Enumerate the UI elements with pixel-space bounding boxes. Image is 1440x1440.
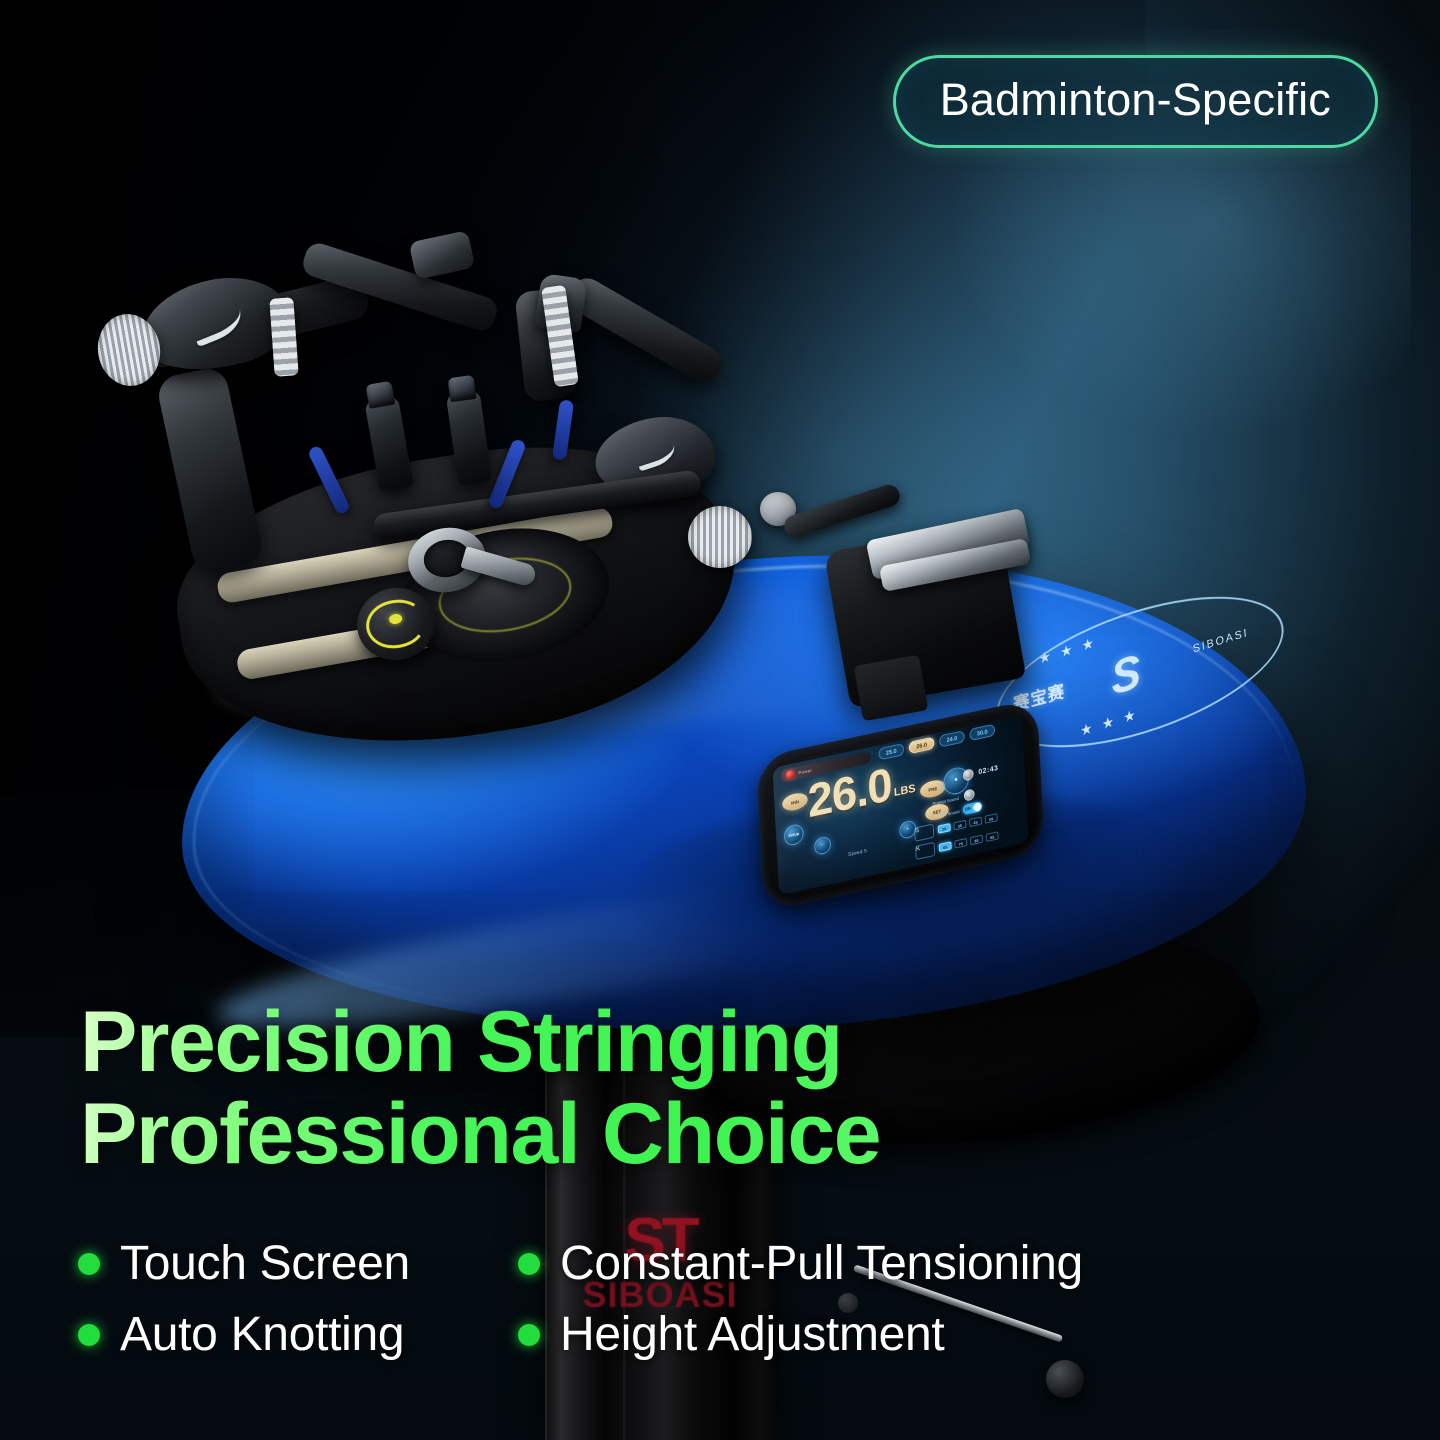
- tension-value: 26.0: [807, 765, 893, 821]
- feature-label: Height Adjustment: [560, 1307, 944, 1362]
- grid-tag-r2-2[interactable]: 7S: [954, 838, 967, 849]
- side-button-pre[interactable]: PRE: [920, 778, 946, 800]
- tension-unit: LBS: [894, 782, 916, 799]
- grid-tag-r1-3[interactable]: 4S: [969, 816, 982, 827]
- feature-list: Touch Screen Constant-Pull Tensioning Au…: [78, 1236, 1358, 1362]
- feature-label: Auto Knotting: [120, 1307, 404, 1362]
- height-adjust-knob: [1046, 1360, 1084, 1398]
- swoosh-logo-icon: [186, 296, 247, 347]
- side-button-min[interactable]: MIN: [782, 791, 808, 813]
- poster-canvas: ST SIBOASI ★★★ ★★★ 赛宝赛 S SIBOASI: [0, 0, 1440, 1440]
- tension-preset-3[interactable]: 24.0: [939, 730, 965, 748]
- tension-preset-2[interactable]: 26.0: [909, 737, 935, 755]
- feature-item-height-adjustment: Height Adjustment: [518, 1307, 1358, 1362]
- decrease-button[interactable]: −: [814, 835, 832, 856]
- badminton-specific-badge: Badminton-Specific: [893, 55, 1378, 148]
- swoosh-logo-icon-small: [632, 434, 678, 471]
- grid-tag-r1-1[interactable]: 2S: [938, 823, 951, 834]
- power-icon: [785, 769, 794, 780]
- toggle-state-text: ON: [965, 805, 971, 811]
- knurled-adjust-knob-right: [688, 506, 752, 568]
- bullet-dot-icon: [518, 1253, 540, 1275]
- tension-preset-group[interactable]: 25.0 26.0 24.0 30.0: [878, 724, 995, 761]
- racket-support-pad-left: [409, 230, 476, 280]
- bullet-dot-icon: [518, 1324, 540, 1346]
- decal-logo-s: S: [1109, 644, 1137, 706]
- support-post-left: [155, 365, 265, 575]
- grid-tag-r2-1[interactable]: 6S: [939, 841, 952, 852]
- screen-knob-upper[interactable]: [962, 768, 973, 781]
- tension-preset-4[interactable]: 30.0: [969, 724, 995, 742]
- grid-tag-r2-4[interactable]: 9S: [986, 831, 999, 842]
- knob-arc-marker: [363, 595, 430, 654]
- feature-item-constant-pull-tensioning: Constant-Pull Tensioning: [518, 1236, 1358, 1291]
- prompt-sound-label: Prompt Sound: [933, 808, 959, 819]
- product-image-stringing-machine: ST SIBOASI ★★★ ★★★ 赛宝赛 S SIBOASI: [0, 0, 1440, 1440]
- feature-label: Constant-Pull Tensioning: [560, 1236, 1083, 1291]
- page-title: Precision Stringing Professional Choice: [80, 996, 880, 1180]
- setup-button[interactable]: Setup: [783, 823, 804, 847]
- feature-label: Touch Screen: [120, 1236, 410, 1291]
- grid-tag-r2-3[interactable]: 8S: [970, 835, 983, 846]
- screen-knob-lower[interactable]: [964, 788, 975, 801]
- feature-item-touch-screen: Touch Screen: [78, 1236, 508, 1291]
- toggle-handle-icon: [973, 802, 981, 812]
- session-timer: 02:43: [978, 765, 998, 776]
- bullet-dot-icon: [78, 1324, 100, 1346]
- grid-tag-r1-4[interactable]: 5S: [985, 813, 998, 824]
- feature-item-auto-knotting: Auto Knotting: [78, 1307, 508, 1362]
- speed-label: Speed 5: [848, 848, 867, 857]
- tensioner-foot: [854, 655, 929, 722]
- tensioner-support-arm: [782, 482, 903, 540]
- mount-arm-right: [562, 272, 727, 388]
- bullet-dot-icon: [78, 1253, 100, 1275]
- grid-tag-r1-2[interactable]: 3S: [953, 820, 966, 831]
- preset-grid-box-1[interactable]: S: [914, 824, 934, 842]
- preset-grid-box-2[interactable]: K: [915, 842, 935, 860]
